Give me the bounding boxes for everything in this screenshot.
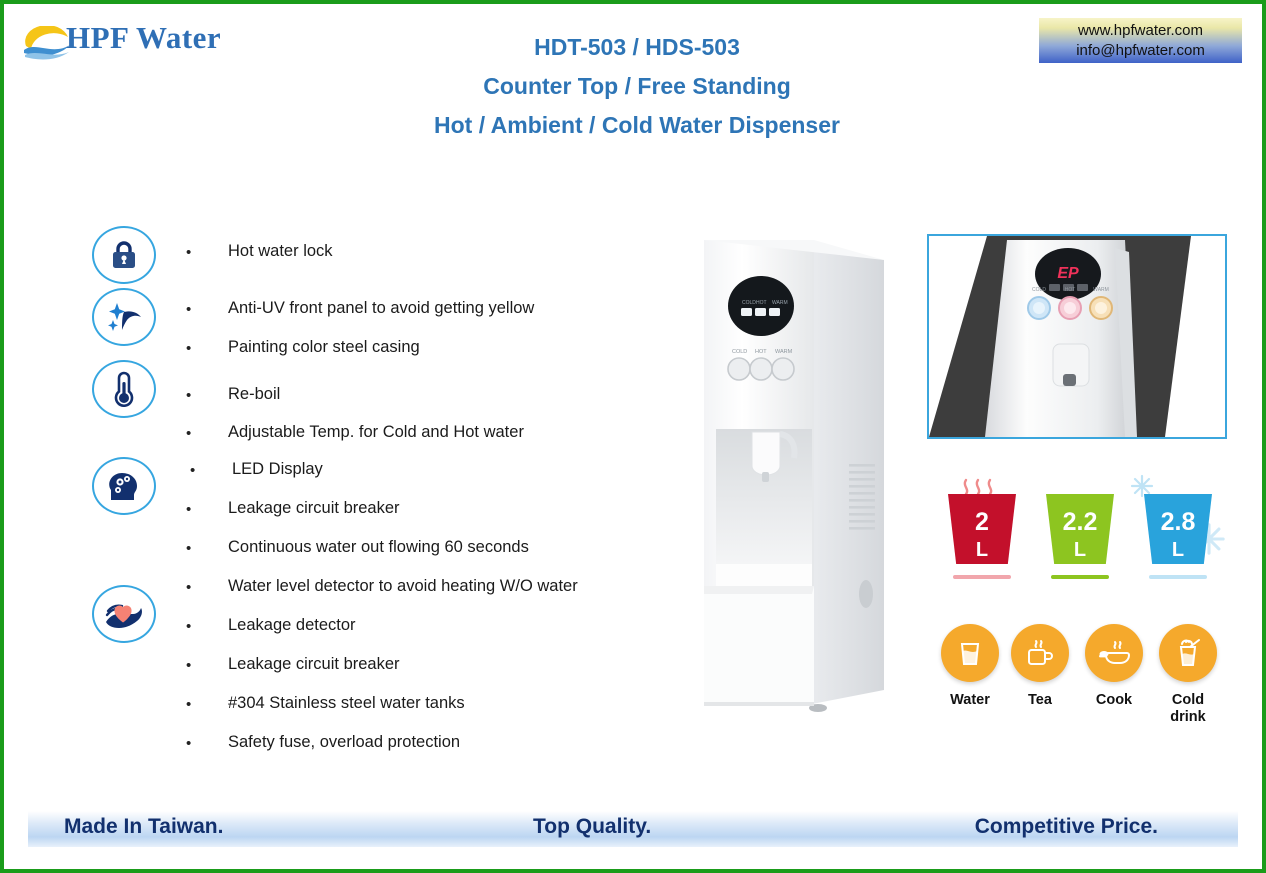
hand-heart-icon: [92, 585, 156, 643]
usage-cold-drink: Cold drink: [1156, 624, 1220, 726]
list-item-label: LED Display: [232, 460, 323, 478]
tank-value: 2.2: [1042, 510, 1118, 535]
svg-text:WARM: WARM: [1093, 287, 1109, 293]
list-item: • Adjustable Temp. for Cold and Hot wate…: [186, 423, 524, 441]
svg-text:WARM: WARM: [775, 349, 793, 355]
list-item-label: Hot water lock: [228, 242, 333, 260]
svg-text:WARM: WARM: [772, 300, 788, 306]
svg-text:HOT: HOT: [1065, 287, 1076, 293]
bullet-marker: •: [186, 694, 228, 712]
tank-capacity-group: 2 L 2.2 L 2.8 L: [934, 474, 1229, 589]
list-item-label: Leakage circuit breaker: [228, 655, 400, 673]
svg-text:COLD: COLD: [1032, 287, 1046, 293]
cook-pot-icon: [1085, 624, 1143, 682]
tank-value: 2.8: [1140, 510, 1216, 535]
list-item: • Leakage circuit breaker: [186, 499, 400, 517]
water-glass-icon: [941, 624, 999, 682]
bullet-marker: •: [186, 385, 228, 403]
tea-cup-icon: [1011, 624, 1069, 682]
list-item-label: Adjustable Temp. for Cold and Hot water: [228, 423, 524, 441]
bullet-marker: •: [186, 577, 228, 595]
list-item-label: #304 Stainless steel water tanks: [228, 694, 465, 712]
list-item: • Water level detector to avoid heating …: [186, 577, 578, 595]
svg-text:COLD: COLD: [742, 300, 756, 306]
usage-icon-group: Water Tea: [932, 624, 1232, 739]
list-item: • Anti-UV front panel to avoid getting y…: [186, 299, 534, 317]
ambient-tank: 2.2 L: [1042, 494, 1118, 572]
feature-icon-column: [92, 226, 162, 676]
title-line-model: HDT-503 / HDS-503: [337, 28, 937, 67]
tank-unit: L: [944, 540, 1020, 560]
list-item-label: Continuous water out flowing 60 seconds: [228, 538, 529, 556]
sun-wave-logo-icon: [22, 26, 72, 60]
usage-label: Cook: [1082, 692, 1146, 709]
list-item-label: Painting color steel casing: [228, 338, 420, 356]
usage-label: Water: [938, 692, 1002, 709]
water-dispenser-photo: COLDHOTWARM COLD HOT WARM: [694, 234, 914, 734]
list-item: • Painting color steel casing: [186, 338, 420, 356]
list-item-label: Leakage detector: [228, 616, 356, 634]
email-text: info@hpfwater.com: [1076, 41, 1205, 61]
product-spec-sheet: HPF Water HDT-503 / HDS-503 Counter Top …: [0, 0, 1266, 873]
title-line-type: Hot / Ambient / Cold Water Dispenser: [337, 106, 937, 145]
title-line-form: Counter Top / Free Standing: [337, 67, 937, 106]
brand-name: HPF Water: [66, 20, 221, 56]
footer-price: Competitive Price.: [975, 815, 1158, 839]
svg-text:COLD: COLD: [732, 349, 747, 355]
list-item: • Hot water lock: [186, 242, 333, 260]
tank-unit: L: [1042, 540, 1118, 560]
list-item-label: Leakage circuit breaker: [228, 499, 400, 517]
list-item: • LED Display: [190, 460, 323, 478]
list-item: • Re-boil: [186, 385, 280, 403]
thermometer-icon: [92, 360, 156, 418]
bullet-marker: •: [190, 460, 232, 478]
list-item: • #304 Stainless steel water tanks: [186, 694, 465, 712]
cold-tank: 2.8 L: [1140, 494, 1216, 572]
usage-label: Tea: [1008, 692, 1072, 709]
bullet-marker: •: [186, 538, 228, 556]
usage-water: Water: [938, 624, 1002, 709]
list-item: • Leakage circuit breaker: [186, 655, 400, 673]
bullet-marker: •: [186, 423, 228, 441]
list-item-label: Water level detector to avoid heating W/…: [228, 577, 578, 595]
bullet-marker: •: [186, 616, 228, 634]
head-gears-icon: [92, 457, 156, 515]
list-item-label: Re-boil: [228, 385, 280, 403]
cold-drink-icon: [1159, 624, 1217, 682]
list-item-label: Anti-UV front panel to avoid getting yel…: [228, 299, 534, 317]
brand-logo: HPF Water: [22, 20, 272, 66]
list-item-label: Safety fuse, overload protection: [228, 733, 460, 751]
bullet-marker: •: [186, 655, 228, 673]
bullet-marker: •: [186, 338, 228, 356]
footer-banner: Made In Taiwan. Top Quality. Competitive…: [28, 811, 1238, 847]
svg-text:HOT: HOT: [756, 300, 767, 306]
website-text: www.hpfwater.com: [1078, 21, 1203, 41]
bullet-marker: •: [186, 499, 228, 517]
svg-text:HOT: HOT: [755, 349, 767, 355]
usage-label: Cold drink: [1156, 692, 1220, 726]
usage-cook: Cook: [1082, 624, 1146, 709]
contact-info-box: www.hpfwater.com info@hpfwater.com: [1039, 18, 1242, 63]
padlock-icon: [92, 226, 156, 284]
footer-made-in: Made In Taiwan.: [64, 815, 223, 839]
bullet-marker: •: [186, 242, 228, 260]
tank-unit: L: [1140, 540, 1216, 560]
hot-tank: 2 L: [944, 494, 1020, 572]
usage-tea: Tea: [1008, 624, 1072, 709]
page-title: HDT-503 / HDS-503 Counter Top / Free Sta…: [337, 28, 937, 145]
bullet-marker: •: [186, 733, 228, 751]
led-display-text: EP: [1057, 265, 1079, 282]
control-panel-detail-photo: EP COLD HOT WARM: [927, 234, 1227, 439]
list-item: • Leakage detector: [186, 616, 356, 634]
tank-value: 2: [944, 510, 1020, 535]
steam-icon: [958, 476, 1004, 496]
list-item: • Safety fuse, overload protection: [186, 733, 460, 751]
sparkle-shine-icon: [92, 288, 156, 346]
bullet-marker: •: [186, 299, 228, 317]
list-item: • Continuous water out flowing 60 second…: [186, 538, 529, 556]
footer-quality: Top Quality.: [533, 815, 651, 839]
